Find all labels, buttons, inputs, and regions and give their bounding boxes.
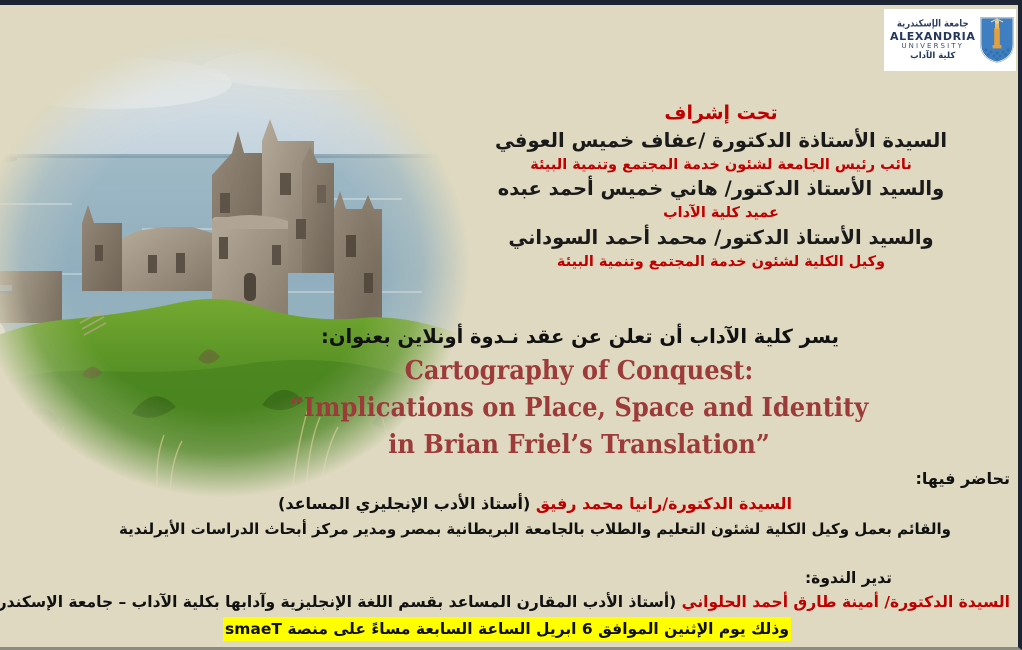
- moderator-label: تدير الندوة:: [4, 567, 1010, 590]
- supervisor-1-name: السيدة الأستاذة الدكتورة /عفاف خميس العو…: [430, 127, 1012, 155]
- speaker-label: تحاضر فيها:: [60, 467, 1010, 491]
- seminar-title-line-1: Cartography of Conquest:: [180, 353, 978, 390]
- speaker-name-line: السيدة الدكتورة/رانيا محمد رفيق (أستاذ ا…: [60, 491, 1010, 517]
- supervisor-3-role: وكيل الكلية لشئون خدمة المجتمع وتنمية ال…: [430, 252, 1012, 272]
- event-datetime-wrap: وذلك يوم الإثنين الموافق 6 ابريل الساعة …: [4, 617, 1010, 641]
- event-datetime-highlight: وذلك يوم الإثنين الموافق 6 ابريل الساعة …: [223, 617, 791, 641]
- supervision-heading: تحت إشراف: [430, 101, 1012, 127]
- moderator-title: (أستاذ الأدب المقارن المساعد بقسم اللغة …: [0, 593, 682, 611]
- moderator-section: تدير الندوة: السيدة الدكتورة/ أمينة طارق…: [4, 567, 1010, 641]
- supervisor-2-name: والسيد الأستاذ الدكتور/ هاني خميس أحمد ع…: [430, 175, 1012, 203]
- seminar-title-english: Cartography of Conquest: “Implications o…: [180, 353, 978, 464]
- supervisor-3-name: والسيد الأستاذ الدكتور/ محمد أحمد السودا…: [430, 224, 1012, 252]
- lighthouse-shield-icon: [979, 16, 1015, 64]
- logo-text-group: جامعة الإسكندرية ALEXANDRIA UNIVERSITY ك…: [890, 20, 975, 60]
- logo-arabic-faculty-name: كلية الآداب: [890, 52, 975, 61]
- seminar-title-line-2: “Implications on Place, Space and Identi…: [180, 390, 978, 427]
- university-logo: جامعة الإسكندرية ALEXANDRIA UNIVERSITY ك…: [884, 9, 1016, 71]
- speaker-title: (أستاذ الأدب الإنجليزي المساعد): [278, 494, 536, 513]
- speaker-role: والقائم بعمل وكيل الكلية لشئون التعليم و…: [60, 517, 1010, 541]
- logo-english-university-word: UNIVERSITY: [890, 43, 975, 50]
- supervision-section: تحت إشراف السيدة الأستاذة الدكتورة /عفاف…: [430, 101, 1012, 272]
- moderator-name: السيدة الدكتورة/ أمينة طارق أحمد الحلوان…: [682, 593, 1010, 611]
- supervisor-1-role: نائب رئيس الجامعة لشئون خدمة المجتمع وتن…: [430, 155, 1012, 175]
- event-poster: جامعة الإسكندرية ALEXANDRIA UNIVERSITY ك…: [0, 0, 1022, 650]
- announcement-line: يسر كلية الآداب أن تعلن عن عقد نـدوة أون…: [150, 325, 1010, 348]
- supervisor-2-role: عميد كلية الآداب: [430, 203, 1012, 223]
- announcement-section: يسر كلية الآداب أن تعلن عن عقد نـدوة أون…: [150, 325, 1010, 348]
- speaker-name: السيدة الدكتورة/رانيا محمد رفيق: [536, 494, 792, 513]
- speaker-section: تحاضر فيها: السيدة الدكتورة/رانيا محمد ر…: [60, 467, 1010, 541]
- moderator-name-line: السيدة الدكتورة/ أمينة طارق أحمد الحلوان…: [4, 590, 1010, 615]
- logo-arabic-university-name: جامعة الإسكندرية: [890, 19, 975, 29]
- logo-english-university-name: ALEXANDRIA: [890, 31, 975, 42]
- seminar-title-line-3: in Brian Friel’s Translation”: [180, 427, 978, 464]
